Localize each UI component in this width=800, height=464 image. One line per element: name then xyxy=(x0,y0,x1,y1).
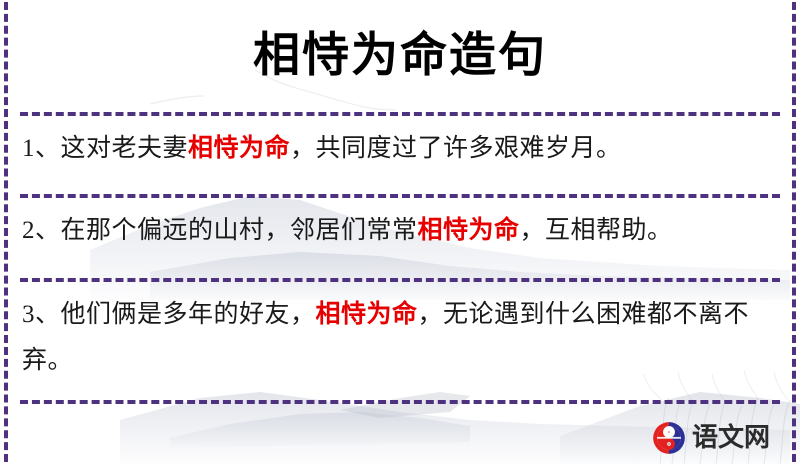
slide-page: 相恃为命造句 1、这对老夫妻相恃为命，共同度过了许多艰难岁月。 2、在那个偏远的… xyxy=(0,0,800,464)
sentence-item-3: 3、他们俩是多年的好友，相恃为命，无论遇到什么困难都不离不弃。 xyxy=(20,282,780,400)
sentence-3-before: 他们俩是多年的好友， xyxy=(61,301,316,328)
sentence-item-2: 2、在那个偏远的山村，邻居们常常相恃为命，互相帮助。 xyxy=(20,198,780,278)
sentence-2-index: 2、 xyxy=(22,217,61,244)
title-block: 相恃为命造句 xyxy=(20,0,780,112)
sentence-1-index: 1、 xyxy=(22,135,61,162)
sentence-3-index: 3、 xyxy=(22,301,61,328)
page-title: 相恃为命造句 xyxy=(253,33,547,80)
sentence-2-highlight: 相恃为命 xyxy=(418,217,520,244)
sentence-2-before: 在那个偏远的山村，邻居们常常 xyxy=(61,217,418,244)
content-stack: 相恃为命造句 1、这对老夫妻相恃为命，共同度过了许多艰难岁月。 2、在那个偏远的… xyxy=(0,0,800,464)
sentence-1-before: 这对老夫妻 xyxy=(61,135,189,162)
sentence-item-1: 1、这对老夫妻相恃为命，共同度过了许多艰难岁月。 xyxy=(20,116,780,194)
sentence-1-highlight: 相恃为命 xyxy=(188,135,290,162)
sentence-1-after: ，共同度过了许多艰难岁月。 xyxy=(290,135,622,162)
yinyang-fish-logo-icon xyxy=(651,420,687,456)
site-logo[interactable]: 语文网 xyxy=(651,420,770,456)
sentence-2-after: ，互相帮助。 xyxy=(520,217,673,244)
footer-area: 语文网 xyxy=(20,404,780,464)
sentence-3-highlight: 相恃为命 xyxy=(316,301,418,328)
site-logo-text: 语文网 xyxy=(692,425,770,451)
